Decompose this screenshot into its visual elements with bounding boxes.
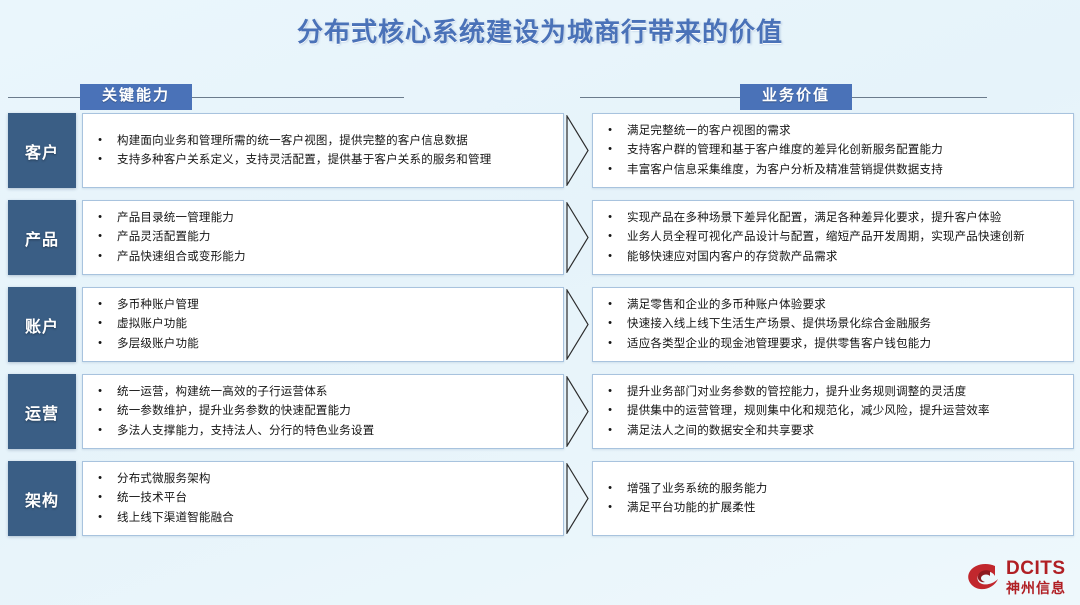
bullet-text: 统一参数维护，提升业务参数的快速配置能力 [117, 404, 553, 418]
bullet-text: 多币种账户管理 [117, 298, 553, 312]
bullet-item: •适应各类型企业的现金池管理要求，提供零售客户钱包能力 [593, 334, 1063, 353]
bullet-item: •线上线下渠道智能融合 [83, 508, 553, 527]
bullet-item: •分布式微服务架构 [83, 469, 553, 488]
bullet-dot-icon: • [83, 404, 117, 418]
bullet-item: •构建面向业务和管理所需的统一客户视图，提供完整的客户信息数据 [83, 131, 553, 150]
bullet-text: 丰富客户信息采集维度，为客户分析及精准营销提供数据支持 [627, 163, 1063, 177]
bullet-item: •业务人员全程可视化产品设计与配置，缩短产品开发周期，实现产品快速创新 [593, 228, 1063, 247]
bullet-text: 满足法人之间的数据安全和共享要求 [627, 424, 1063, 438]
bullet-dot-icon: • [83, 211, 117, 225]
bullet-dot-icon: • [83, 134, 117, 148]
bullet-dot-icon: • [593, 298, 627, 312]
capabilities-panel: •分布式微服务架构•统一技术平台•线上线下渠道智能融合 [82, 461, 564, 536]
bullet-dot-icon: • [83, 385, 117, 399]
bullet-text: 满足零售和企业的多币种账户体验要求 [627, 298, 1063, 312]
bullet-item: •产品快速组合或变形能力 [83, 247, 553, 266]
bullet-dot-icon: • [593, 501, 627, 515]
bullet-item: •产品目录统一管理能力 [83, 208, 553, 227]
bullet-dot-icon: • [83, 424, 117, 438]
bullet-text: 产品目录统一管理能力 [117, 211, 553, 225]
bullet-dot-icon: • [593, 250, 627, 264]
bullet-text: 满足平台功能的扩展柔性 [627, 501, 1063, 515]
bullet-item: •产品灵活配置能力 [83, 228, 553, 247]
bullet-text: 多层级账户功能 [117, 337, 553, 351]
bullet-item: •实现产品在多种场景下差异化配置，满足各种差异化要求，提升客户体验 [593, 208, 1063, 227]
bullet-text: 支持客户群的管理和基于客户维度的差异化创新服务配置能力 [627, 143, 1063, 157]
bullet-dot-icon: • [83, 317, 117, 331]
row: 运营•统一运营，构建统一高效的子行运营体系•统一参数维护，提升业务参数的快速配置… [0, 374, 1080, 449]
bullet-item: •多法人支撑能力，支持法人、分行的特色业务设置 [83, 421, 553, 440]
bullet-text: 提供集中的运营管理，规则集中化和规范化，减少风险，提升运营效率 [627, 404, 1063, 418]
bullet-text: 构建面向业务和管理所需的统一客户视图，提供完整的客户信息数据 [117, 134, 553, 148]
bullet-dot-icon: • [593, 482, 627, 496]
bullet-dot-icon: • [83, 230, 117, 244]
row-label-0[interactable]: 客户 [8, 113, 76, 188]
dcits-swoosh-icon [966, 561, 1000, 593]
bullet-item: •多层级账户功能 [83, 334, 553, 353]
bullet-text: 适应各类型企业的现金池管理要求，提供零售客户钱包能力 [627, 337, 1063, 351]
bullet-dot-icon: • [83, 472, 117, 486]
chevron-right-icon [566, 115, 590, 186]
bullet-text: 分布式微服务架构 [117, 472, 553, 486]
business-value-panel: •增强了业务系统的服务能力•满足平台功能的扩展柔性 [592, 461, 1074, 536]
bullet-dot-icon: • [593, 230, 627, 244]
bullet-dot-icon: • [593, 124, 627, 138]
chevron-right-icon [566, 289, 590, 360]
bullet-item: •满足完整统一的客户视图的需求 [593, 121, 1063, 140]
bullet-text: 产品快速组合或变形能力 [117, 250, 553, 264]
bullet-dot-icon: • [593, 317, 627, 331]
bullet-text: 增强了业务系统的服务能力 [627, 482, 1063, 496]
logo-name-cn: 神州信息 [1006, 581, 1066, 595]
bullet-dot-icon: • [593, 211, 627, 225]
bullet-item: •统一技术平台 [83, 489, 553, 508]
slide-canvas: 分布式核心系统建设为城商行带来的价值 关键能力 业务价值 客户•构建面向业务和管… [0, 0, 1080, 605]
bullet-item: •虚拟账户功能 [83, 315, 553, 334]
chevron-right-icon [566, 202, 590, 273]
bullet-text: 能够快速应对国内客户的存贷款产品需求 [627, 250, 1063, 264]
row: 产品•产品目录统一管理能力•产品灵活配置能力•产品快速组合或变形能力•实现产品在… [0, 200, 1080, 275]
bullet-text: 多法人支撑能力，支持法人、分行的特色业务设置 [117, 424, 553, 438]
rule-line-left [580, 97, 740, 98]
bullet-item: •提供集中的运营管理，规则集中化和规范化，减少风险，提升运营效率 [593, 402, 1063, 421]
rule-line-right [192, 97, 404, 98]
bullet-text: 线上线下渠道智能融合 [117, 511, 553, 525]
bullet-text: 产品灵活配置能力 [117, 230, 553, 244]
rows-container: 客户•构建面向业务和管理所需的统一客户视图，提供完整的客户信息数据•支持多种客户… [0, 113, 1080, 548]
company-logo: DCITS 神州信息 [966, 559, 1066, 595]
bullet-text: 支持多种客户关系定义，支持灵活配置，提供基于客户关系的服务和管理 [117, 153, 553, 167]
column-header-capabilities: 关键能力 [8, 84, 564, 110]
bullet-item: •快速接入线上线下生活生产场景、提供场景化综合金融服务 [593, 315, 1063, 334]
bullet-dot-icon: • [593, 404, 627, 418]
capabilities-panel: •产品目录统一管理能力•产品灵活配置能力•产品快速组合或变形能力 [82, 200, 564, 275]
bullet-text: 业务人员全程可视化产品设计与配置，缩短产品开发周期，实现产品快速创新 [627, 230, 1063, 244]
bullet-dot-icon: • [593, 163, 627, 177]
bullet-dot-icon: • [593, 385, 627, 399]
bullet-text: 统一技术平台 [117, 491, 553, 505]
bullet-item: •增强了业务系统的服务能力 [593, 479, 1063, 498]
bullet-item: •满足法人之间的数据安全和共享要求 [593, 421, 1063, 440]
bullet-item: •能够快速应对国内客户的存贷款产品需求 [593, 247, 1063, 266]
bullet-item: •丰富客户信息采集维度，为客户分析及精准营销提供数据支持 [593, 160, 1063, 179]
column-header-values: 业务价值 [580, 84, 1074, 110]
row-label-1[interactable]: 产品 [8, 200, 76, 275]
capabilities-panel: •构建面向业务和管理所需的统一客户视图，提供完整的客户信息数据•支持多种客户关系… [82, 113, 564, 188]
row: 架构•分布式微服务架构•统一技术平台•线上线下渠道智能融合•增强了业务系统的服务… [0, 461, 1080, 536]
bullet-item: •满足平台功能的扩展柔性 [593, 499, 1063, 518]
business-value-panel: •提升业务部门对业务参数的管控能力，提升业务规则调整的灵活度•提供集中的运营管理… [592, 374, 1074, 449]
column-headers: 关键能力 业务价值 [0, 84, 1080, 110]
capabilities-panel: •多币种账户管理•虚拟账户功能•多层级账户功能 [82, 287, 564, 362]
capabilities-panel: •统一运营，构建统一高效的子行运营体系•统一参数维护，提升业务参数的快速配置能力… [82, 374, 564, 449]
business-value-panel: •实现产品在多种场景下差异化配置，满足各种差异化要求，提升客户体验•业务人员全程… [592, 200, 1074, 275]
bullet-dot-icon: • [593, 143, 627, 157]
bullet-item: •多币种账户管理 [83, 295, 553, 314]
row: 客户•构建面向业务和管理所需的统一客户视图，提供完整的客户信息数据•支持多种客户… [0, 113, 1080, 188]
bullet-text: 快速接入线上线下生活生产场景、提供场景化综合金融服务 [627, 317, 1063, 331]
bullet-dot-icon: • [83, 511, 117, 525]
bullet-text: 提升业务部门对业务参数的管控能力，提升业务规则调整的灵活度 [627, 385, 1063, 399]
row-label-3[interactable]: 运营 [8, 374, 76, 449]
bullet-dot-icon: • [83, 153, 117, 167]
business-value-panel: •满足完整统一的客户视图的需求•支持客户群的管理和基于客户维度的差异化创新服务配… [592, 113, 1074, 188]
tab-business-value[interactable]: 业务价值 [740, 84, 852, 110]
bullet-dot-icon: • [593, 424, 627, 438]
bullet-item: •满足零售和企业的多币种账户体验要求 [593, 295, 1063, 314]
bullet-text: 统一运营，构建统一高效的子行运营体系 [117, 385, 553, 399]
bullet-item: •支持客户群的管理和基于客户维度的差异化创新服务配置能力 [593, 141, 1063, 160]
chevron-right-icon [566, 463, 590, 534]
business-value-panel: •满足零售和企业的多币种账户体验要求•快速接入线上线下生活生产场景、提供场景化综… [592, 287, 1074, 362]
bullet-item: •支持多种客户关系定义，支持灵活配置，提供基于客户关系的服务和管理 [83, 151, 553, 170]
logo-name-en: DCITS [1006, 559, 1066, 578]
row-label-2[interactable]: 账户 [8, 287, 76, 362]
bullet-dot-icon: • [83, 491, 117, 505]
bullet-text: 满足完整统一的客户视图的需求 [627, 124, 1063, 138]
bullet-dot-icon: • [83, 298, 117, 312]
bullet-text: 虚拟账户功能 [117, 317, 553, 331]
page-title: 分布式核心系统建设为城商行带来的价值 [0, 12, 1080, 49]
bullet-dot-icon: • [83, 337, 117, 351]
rule-line-right [852, 97, 987, 98]
chevron-right-icon [566, 376, 590, 447]
tab-capabilities[interactable]: 关键能力 [80, 84, 192, 110]
rule-line-left [8, 97, 80, 98]
bullet-item: •统一运营，构建统一高效的子行运营体系 [83, 382, 553, 401]
bullet-text: 实现产品在多种场景下差异化配置，满足各种差异化要求，提升客户体验 [627, 211, 1063, 225]
bullet-dot-icon: • [83, 250, 117, 264]
bullet-item: •提升业务部门对业务参数的管控能力，提升业务规则调整的灵活度 [593, 382, 1063, 401]
bullet-item: •统一参数维护，提升业务参数的快速配置能力 [83, 402, 553, 421]
logo-wordmark: DCITS 神州信息 [1006, 559, 1066, 595]
row-label-4[interactable]: 架构 [8, 461, 76, 536]
row: 账户•多币种账户管理•虚拟账户功能•多层级账户功能•满足零售和企业的多币种账户体… [0, 287, 1080, 362]
page-title-text: 分布式核心系统建设为城商行带来的价值 [297, 12, 783, 49]
bullet-dot-icon: • [593, 337, 627, 351]
